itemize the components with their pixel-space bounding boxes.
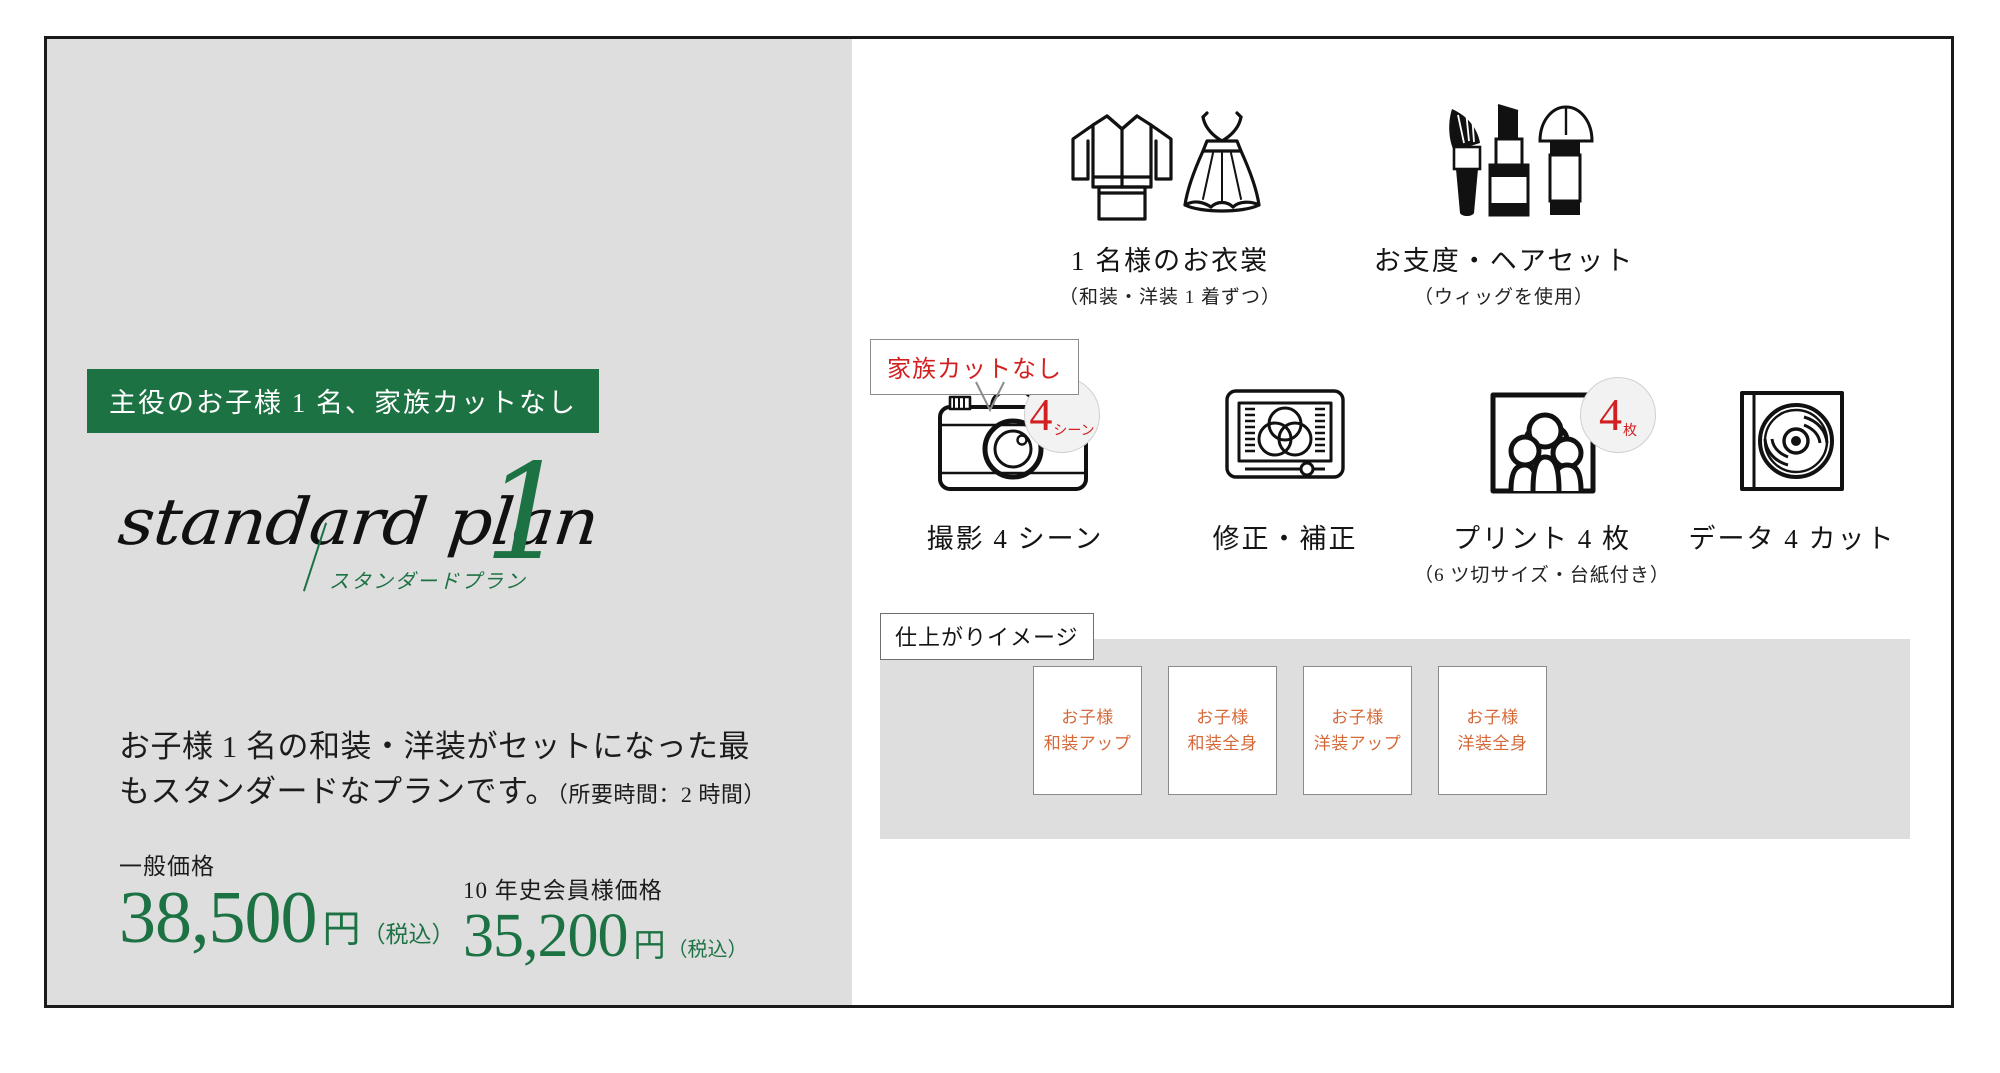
print-count-unit: 枚 — [1623, 420, 1637, 440]
makeup-brush-lipstick-icon — [1354, 91, 1654, 221]
price-member-currency: 円 — [634, 920, 666, 966]
feature-makeup-sub: （ウィッグを使用） — [1354, 282, 1654, 309]
gallery-frame: お子様 洋装全身 — [1438, 666, 1547, 795]
plan-logo: standard plan 1 スタンダードプラン — [89, 469, 709, 609]
price-member-label: 10 年史会員様価格 — [463, 871, 748, 905]
plan-description: お子様 1 名の和装・洋装がセットになった最もスタンダードなプランです。（所要時… — [119, 725, 779, 815]
gallery-frame: お子様 和装アップ — [1033, 666, 1142, 795]
gallery-frames: お子様 和装アップ お子様 和装全身 お子様 洋装アップ お子様 洋装全身 — [1033, 666, 1547, 795]
feature-costume-sub: （和装・洋装 1 着ずつ） — [1020, 282, 1320, 309]
price-member-row: 35,200 円 （税込） — [463, 907, 748, 966]
price-general-tax: （税込） — [363, 915, 455, 949]
feature-retouch-title: 修正・補正 — [1140, 517, 1430, 556]
gallery-frame-line2: 和装全身 — [1188, 731, 1258, 757]
price-general-row: 38,500 円 （税込） — [119, 883, 455, 953]
feature-shooting-title: 撮影 4 シーン — [870, 517, 1160, 556]
price-general: 一般価格 38,500 円 （税込） — [119, 847, 455, 953]
highlight-badge: 主役のお子様 1 名、家族カットなし — [87, 369, 599, 433]
feature-data: データ 4 カット — [1662, 369, 1922, 556]
gallery-frame-line1: お子様 — [1061, 705, 1114, 731]
gallery-frame-line2: 和装アップ — [1044, 731, 1132, 757]
price-member: 10 年史会員様価格 35,200 円 （税込） — [463, 871, 748, 966]
print-count-badge: 4 枚 — [1580, 377, 1656, 453]
feature-print-sub: （6 ツ切サイズ・台紙付き） — [1392, 560, 1692, 587]
feature-data-title: データ 4 カット — [1662, 517, 1922, 556]
scene-count-unit: シーン — [1053, 420, 1094, 440]
print-count-number: 4 — [1599, 392, 1622, 438]
price-member-tax: （税込） — [668, 933, 748, 962]
feature-makeup-title: お支度・ヘアセット — [1354, 239, 1654, 278]
feature-print-title: プリント 4 枚 — [1392, 517, 1692, 556]
feature-costume: 1 名様のお衣裳 （和装・洋装 1 着ずつ） — [1020, 91, 1320, 309]
feature-makeup: お支度・ヘアセット （ウィッグを使用） — [1354, 91, 1654, 309]
plan-description-note: （所要時間：2 時間） — [557, 782, 766, 807]
gallery-frame-line1: お子様 — [1331, 705, 1384, 731]
cd-disc-case-icon — [1662, 369, 1922, 499]
price-member-amount: 35,200 — [463, 907, 628, 966]
gallery-label: 仕上がりイメージ — [880, 613, 1094, 660]
left-panel: 主役のお子様 1 名、家族カットなし standard plan 1 スタンダー… — [47, 39, 852, 1005]
feature-retouch: 修正・補正 — [1140, 369, 1430, 556]
feature-shooting: 撮影 4 シーン — [870, 369, 1160, 556]
feature-costume-title: 1 名様のお衣裳 — [1020, 239, 1320, 278]
plan-card: 主役のお子様 1 名、家族カットなし standard plan 1 スタンダー… — [44, 36, 1954, 1008]
kimono-dress-icon — [1020, 91, 1320, 221]
price-general-currency: 円 — [323, 898, 361, 953]
gallery-frame-line2: 洋装アップ — [1314, 731, 1402, 757]
monitor-color-correction-icon — [1140, 369, 1430, 499]
price-general-label: 一般価格 — [119, 847, 455, 881]
gallery-frame-line2: 洋装全身 — [1458, 731, 1528, 757]
scene-count-number: 4 — [1029, 392, 1052, 438]
plan-logo-kana: スタンダードプラン — [329, 565, 527, 594]
gallery-frame: お子様 洋装アップ — [1303, 666, 1412, 795]
gallery-frame: お子様 和装全身 — [1168, 666, 1277, 795]
plan-logo-number: 1 — [484, 447, 568, 579]
price-general-amount: 38,500 — [119, 883, 317, 953]
callout-arrow-icon — [972, 380, 1008, 419]
gallery-frame-line1: お子様 — [1466, 705, 1519, 731]
gallery-frame-line1: お子様 — [1196, 705, 1249, 731]
finished-image-gallery: 仕上がりイメージ お子様 和装アップ お子様 和装全身 お子様 洋装アップ お子… — [880, 639, 1910, 839]
right-panel: 1 名様のお衣裳 （和装・洋装 1 着ずつ） — [852, 39, 1951, 1005]
